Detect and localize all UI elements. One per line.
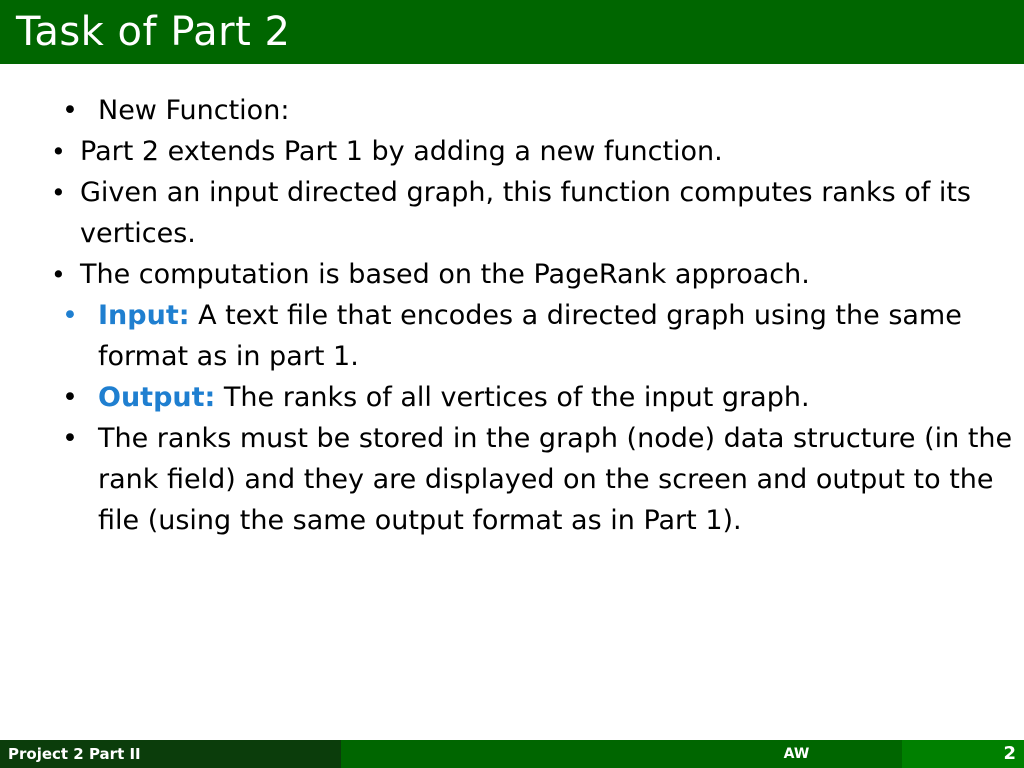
list-item-text: The ranks of all vertices of the input g…	[215, 382, 809, 413]
page-title: Task of Part 2	[16, 8, 290, 56]
footer-author-label: AW	[691, 744, 902, 764]
sub-list-wrapper: • Part 2 extends Part 1 by adding a new …	[0, 131, 1024, 295]
slide: Task of Part 2 • New Function: • Part 2 …	[0, 0, 1024, 768]
list-item-text: The computation is based on the PageRank…	[80, 259, 810, 290]
footer-page-number-segment: 2	[902, 740, 1024, 768]
list-item: • New Function:	[50, 90, 1024, 131]
list-item-input: • Input: A text file that encodes a dire…	[50, 295, 1024, 377]
slide-title-bar: Task of Part 2	[0, 0, 1024, 64]
sub-bullet-list: • Part 2 extends Part 1 by adding a new …	[0, 131, 1024, 295]
slide-footer: Project 2 Part II AW 2	[0, 740, 1024, 768]
list-item-text: Part 2 extends Part 1 by adding a new fu…	[80, 136, 723, 167]
bullet-marker-icon: •	[51, 131, 66, 172]
list-item-output: • Output: The ranks of all vertices of t…	[50, 377, 1024, 418]
list-item: • Given an input directed graph, this fu…	[45, 172, 1024, 254]
footer-author-segment: AW	[691, 740, 902, 768]
input-label: Input:	[98, 300, 190, 331]
bullet-marker-icon: •	[51, 172, 66, 213]
bullet-marker-icon: •	[62, 418, 78, 459]
page-number: 2	[902, 743, 1016, 765]
list-item-text: A text file that encodes a directed grap…	[98, 300, 962, 372]
list-item: • Part 2 extends Part 1 by adding a new …	[45, 131, 1024, 172]
footer-middle-segment	[341, 740, 691, 768]
bullet-marker-icon: •	[62, 90, 78, 131]
bullet-list: • New Function: • Part 2 extends Part 1 …	[0, 90, 1024, 541]
bullet-marker-icon: •	[62, 295, 78, 336]
footer-project-label: Project 2 Part II	[8, 744, 141, 764]
bullet-marker-icon: •	[62, 377, 78, 418]
slide-body: • New Function: • Part 2 extends Part 1 …	[0, 90, 1024, 541]
list-item: • The ranks must be stored in the graph …	[50, 418, 1024, 541]
output-label: Output:	[98, 382, 215, 413]
list-item: • The computation is based on the PageRa…	[45, 254, 1024, 295]
bullet-marker-icon: •	[51, 254, 66, 295]
list-item-text: The ranks must be stored in the graph (n…	[98, 423, 1012, 536]
list-item-text: Given an input directed graph, this func…	[80, 177, 971, 249]
footer-left-segment: Project 2 Part II	[0, 740, 341, 768]
list-item-text: New Function:	[98, 95, 289, 126]
